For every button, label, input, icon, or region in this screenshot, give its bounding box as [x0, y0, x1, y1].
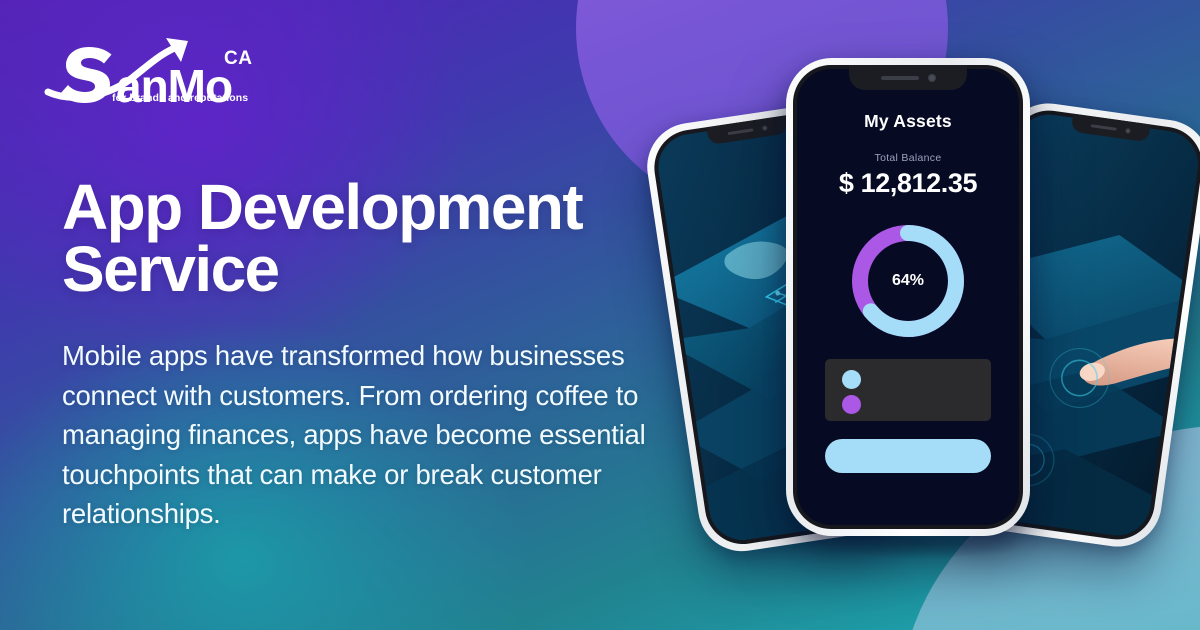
logo-superscript-ca: CA: [224, 48, 252, 69]
asset-legend-card[interactable]: [825, 359, 991, 421]
assets-donut-chart[interactable]: 64%: [846, 219, 970, 343]
primary-action-button[interactable]: [825, 439, 991, 473]
phone-center: My Assets Total Balance $ 12,812.35: [786, 58, 1030, 536]
headline-line-2: Service: [62, 238, 682, 300]
poster-canvas: anMo CA . for brands and reputations App…: [0, 0, 1200, 630]
hero-body-text: Mobile apps have transformed how busines…: [62, 336, 712, 534]
assets-app-screen: My Assets Total Balance $ 12,812.35: [797, 69, 1019, 525]
front-camera-icon: [1125, 128, 1131, 134]
front-camera-icon: [762, 125, 768, 131]
sanmo-logo[interactable]: anMo CA . for brands and reputations: [42, 34, 258, 106]
donut-center-percent: 64%: [846, 219, 970, 343]
phone-center-frame: My Assets Total Balance $ 12,812.35: [786, 58, 1030, 536]
phone-mockup-group: My Assets Total Balance $ 12,812.35: [650, 0, 1200, 630]
phone-center-bezel: My Assets Total Balance $ 12,812.35: [793, 65, 1023, 529]
page-title: App Development Service: [62, 176, 682, 300]
total-balance-label: Total Balance: [817, 152, 999, 164]
phone-center-screen: My Assets Total Balance $ 12,812.35: [797, 69, 1019, 525]
speaker-grille-icon: [881, 76, 919, 80]
legend-dot-remaining: [842, 395, 861, 414]
phone-center-notch: [849, 65, 967, 90]
legend-dot-allocated: [842, 370, 861, 389]
logo-tagline: for brands and reputations: [112, 92, 248, 104]
front-camera-icon: [928, 74, 936, 82]
speaker-grille-icon: [727, 128, 753, 135]
total-balance-value: $ 12,812.35: [817, 168, 999, 199]
app-screen-title: My Assets: [817, 111, 999, 132]
speaker-grille-icon: [1091, 124, 1117, 131]
